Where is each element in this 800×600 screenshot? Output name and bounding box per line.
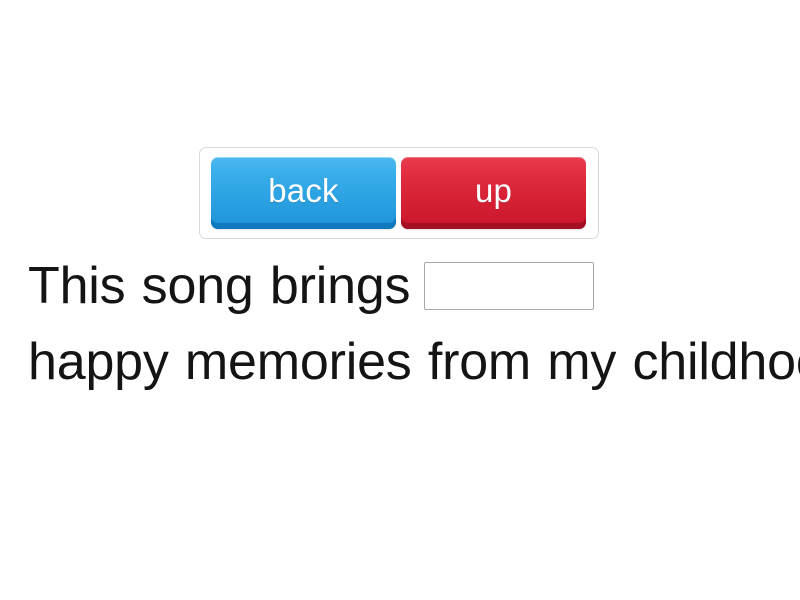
sentence-text-after-blank: happy memories from my childhood. [28, 333, 800, 391]
answer-options-panel: back up [199, 147, 599, 239]
answer-option-back[interactable]: back [211, 157, 396, 229]
answer-option-label: back [268, 174, 339, 207]
answer-option-up[interactable]: up [401, 157, 586, 229]
blank-answer-box[interactable] [424, 262, 594, 310]
question-sentence: This song bringshappy memories from my c… [28, 248, 780, 400]
sentence-text-before-blank: This song brings [28, 257, 410, 315]
answer-option-label: up [475, 174, 512, 207]
